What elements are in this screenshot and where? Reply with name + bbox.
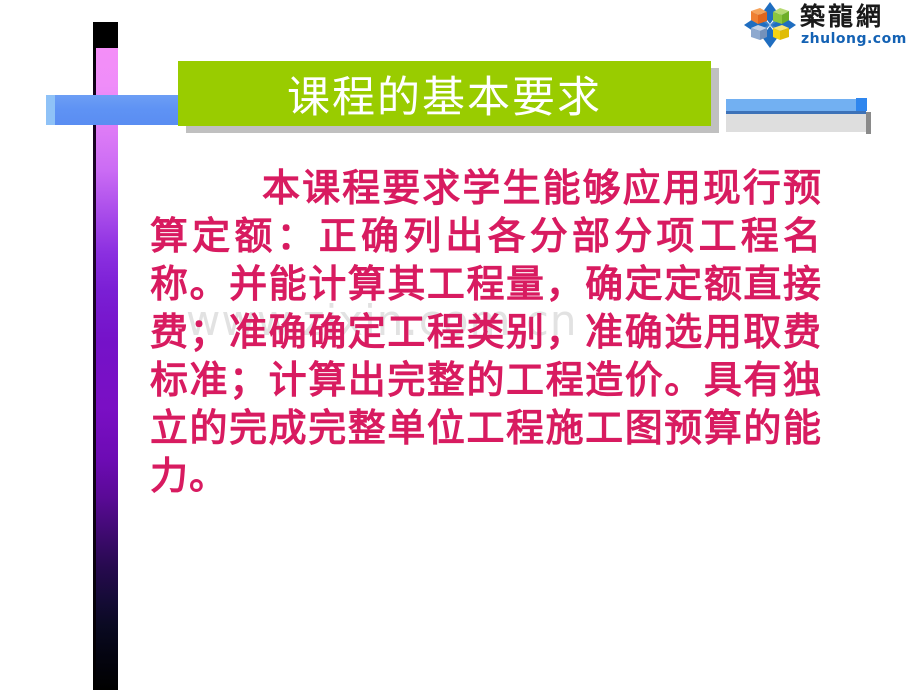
zhulong-logo-name-en: zhulong.com	[801, 31, 907, 47]
zhulong-star-cubes-icon	[744, 2, 796, 48]
body-paragraph: 本课程要求学生能够应用现行预算定额：正确列出各分部分项工程名称。并能计算其工程量…	[150, 164, 822, 500]
zhulong-logo-name-cn: 築龍網	[800, 2, 884, 31]
zhulong-logo-text: 築龍網 zhulong.com	[800, 2, 916, 48]
light-blue-bar-right	[726, 99, 865, 111]
zhulong-logo[interactable]: 築龍網 zhulong.com	[744, 2, 916, 50]
gray-shadow-slab-edge	[866, 112, 871, 134]
gray-shadow-slab	[726, 114, 866, 132]
presentation-slide: 课程的基本要求	[0, 0, 920, 690]
light-blue-bar-right-cap	[856, 98, 867, 111]
vertical-bar-gradient	[96, 48, 118, 690]
blue-bar-left-cap	[46, 95, 55, 125]
page-title: 课程的基本要求	[178, 61, 711, 126]
vertical-bar-black-cap	[96, 22, 118, 48]
